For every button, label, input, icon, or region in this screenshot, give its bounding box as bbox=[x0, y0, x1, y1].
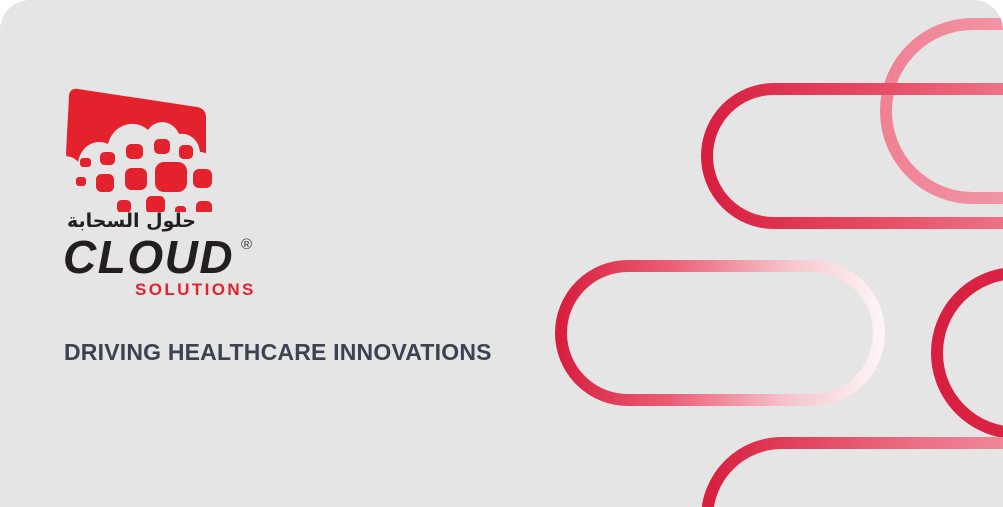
tagline: DRIVING HEALTHCARE INNOVATIONS bbox=[64, 341, 492, 364]
pill-bottom-right bbox=[707, 443, 1003, 507]
pill-right-partial bbox=[937, 273, 1003, 433]
brand-logo: حلول السحابة CLOUD ® SOLUTIONS bbox=[63, 82, 263, 298]
pill-top-right-partial bbox=[886, 24, 1003, 198]
brand-banner: حلول السحابة CLOUD ® SOLUTIONS DRIVING H… bbox=[0, 0, 1003, 507]
logo-wordmark: CLOUD bbox=[63, 235, 234, 279]
logo-subwordmark: SOLUTIONS bbox=[63, 281, 263, 298]
pill-middle-center bbox=[561, 266, 879, 400]
pill-large-upper bbox=[707, 89, 1003, 223]
cloud-solutions-logo-mark bbox=[63, 82, 253, 212]
registered-trademark-icon: ® bbox=[241, 237, 252, 252]
logo-wordmark-row: CLOUD ® bbox=[63, 235, 263, 279]
